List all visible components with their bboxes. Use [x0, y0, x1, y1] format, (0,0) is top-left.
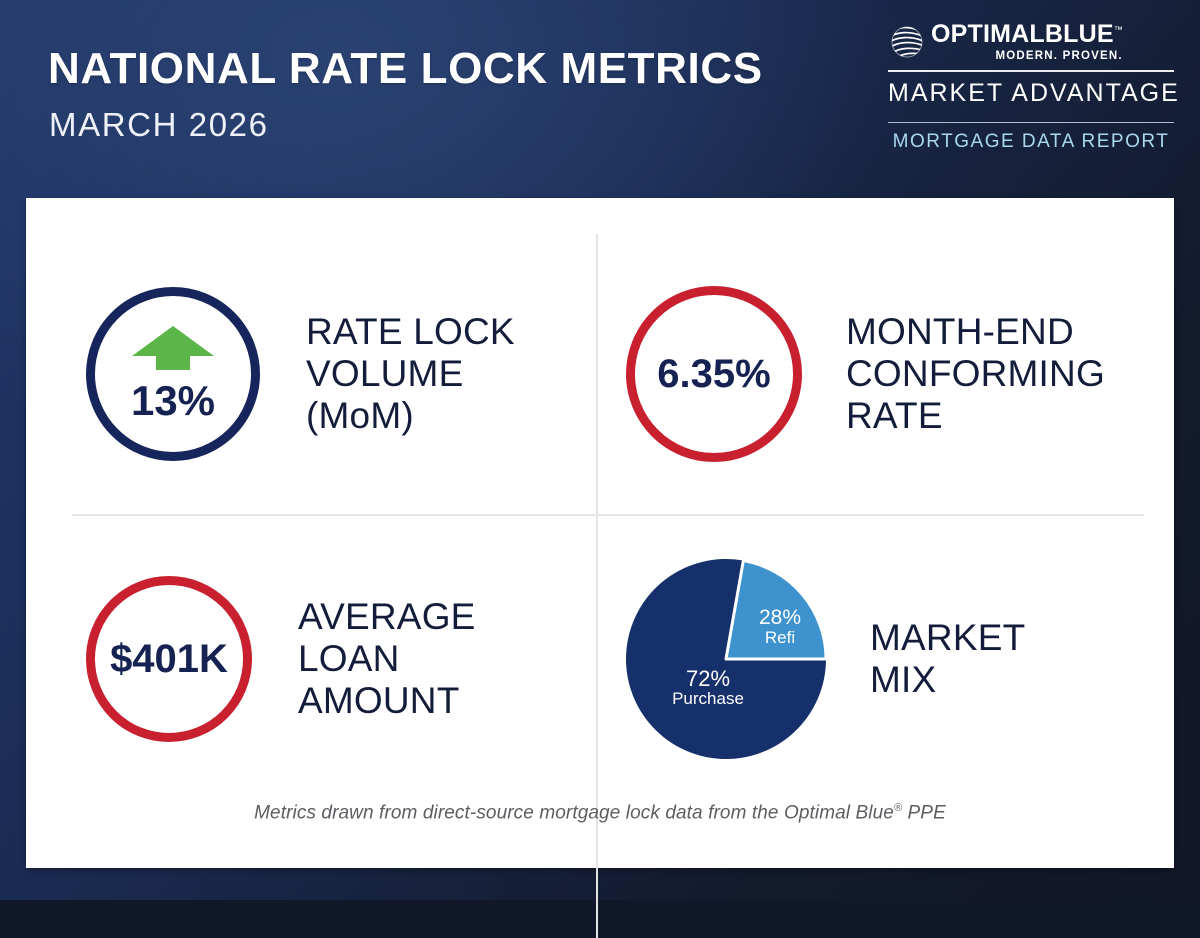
pie-svg: [626, 559, 826, 759]
brand-lockup: OPTIMALBLUE™ MODERN. PROVEN.: [888, 22, 1174, 62]
market-mix-pie-chart: 28% Refi 72% Purchase: [626, 559, 826, 759]
rate-lock-volume-badge: 13%: [86, 287, 260, 461]
metric-average-loan-amount: $401K AVERAGE LOAN AMOUNT: [86, 534, 586, 784]
globe-icon: [890, 25, 924, 59]
vertical-divider: [596, 234, 598, 938]
metric-rate-lock-volume: 13% RATE LOCK VOLUME (MoM): [86, 240, 586, 508]
logo-divider-top: [888, 70, 1174, 72]
conforming-rate-value: 6.35%: [657, 354, 770, 394]
brand-name: OPTIMALBLUE™: [931, 22, 1123, 48]
brand-tagline: MODERN. PROVEN.: [995, 50, 1122, 62]
horizontal-divider: [72, 514, 1144, 516]
wordmark: OPTIMALBLUE™ MODERN. PROVEN.: [931, 22, 1123, 62]
rate-lock-volume-value: 13%: [131, 380, 215, 422]
footnote-text-before: Metrics drawn from direct-source mortgag…: [254, 802, 894, 823]
market-mix-label: MARKET MIX: [870, 617, 1025, 701]
logo-block: OPTIMALBLUE™ MODERN. PROVEN. MARKET ADVA…: [888, 22, 1174, 153]
average-loan-amount-value: $401K: [110, 639, 228, 679]
arrow-up-icon: [132, 326, 214, 370]
conforming-rate-badge: 6.35%: [626, 286, 802, 462]
metric-market-mix: 28% Refi 72% Purchase MARKET MIX: [626, 534, 1156, 784]
footnote: Metrics drawn from direct-source mortgag…: [26, 802, 1174, 824]
header: NATIONAL RATE LOCK METRICS MARCH 2026: [0, 0, 1200, 198]
average-loan-amount-label: AVERAGE LOAN AMOUNT: [298, 596, 476, 721]
footnote-text-after: PPE: [902, 802, 946, 823]
average-loan-amount-badge: $401K: [86, 576, 252, 742]
registered-symbol: ®: [894, 802, 902, 814]
trademark-symbol: ™: [1114, 25, 1123, 35]
metrics-card: 13% RATE LOCK VOLUME (MoM) 6.35% MONTH-E…: [26, 198, 1174, 868]
product-name: MARKET ADVANTAGE: [888, 72, 1174, 114]
conforming-rate-label: MONTH-END CONFORMING RATE: [846, 311, 1105, 436]
rate-lock-volume-label: RATE LOCK VOLUME (MoM): [306, 311, 515, 436]
page-title: NATIONAL RATE LOCK METRICS: [48, 44, 763, 94]
page-subtitle: MARCH 2026: [49, 106, 269, 144]
logo-divider-bottom: [888, 122, 1174, 124]
infographic-page: NATIONAL RATE LOCK METRICS MARCH 2026: [0, 0, 1200, 900]
report-type: MORTGAGE DATA REPORT: [888, 123, 1174, 153]
pie-slice-refi: [726, 561, 826, 659]
metric-month-end-conforming-rate: 6.35% MONTH-END CONFORMING RATE: [626, 240, 1156, 508]
